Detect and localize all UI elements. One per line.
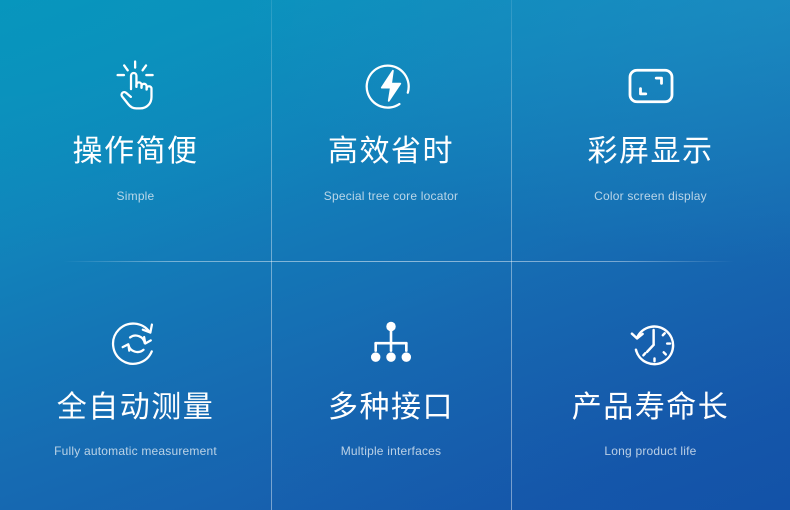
- feature-cell-interfaces: 多种接口 Multiple interfaces: [271, 261, 511, 510]
- feature-grid-banner: 操作简便 Simple 高效省时 Special tree core locat…: [0, 0, 790, 510]
- feature-title: 产品寿命长: [572, 392, 730, 424]
- feature-cell-efficient: 高效省时 Special tree core locator: [271, 0, 511, 261]
- lightning-bolt-circle-icon: [363, 58, 419, 114]
- feature-cell-auto-measure: 全自动测量 Fully automatic measurement: [0, 261, 271, 510]
- feature-cell-color-screen: 彩屏显示 Color screen display: [511, 0, 790, 261]
- feature-subtitle: Fully automatic measurement: [54, 444, 217, 458]
- feature-subtitle: Multiple interfaces: [341, 444, 442, 458]
- feature-title: 彩屏显示: [588, 136, 714, 168]
- auto-refresh-cycle-icon: [108, 316, 164, 372]
- tap-hand-icon: [108, 58, 164, 114]
- screen-display-icon: [623, 58, 679, 114]
- feature-subtitle: Simple: [117, 189, 155, 203]
- feature-title: 高效省时: [328, 136, 454, 168]
- feature-subtitle: Long product life: [604, 444, 696, 458]
- feature-subtitle: Color screen display: [594, 189, 707, 203]
- feature-cell-simple: 操作简便 Simple: [0, 0, 271, 261]
- feature-title: 操作简便: [73, 136, 199, 168]
- features-grid: 操作简便 Simple 高效省时 Special tree core locat…: [0, 0, 790, 510]
- hierarchy-nodes-icon: [363, 316, 419, 372]
- feature-subtitle: Special tree core locator: [324, 189, 458, 203]
- feature-title: 全自动测量: [57, 392, 215, 424]
- feature-cell-long-life: 产品寿命长 Long product life: [511, 261, 790, 510]
- feature-title: 多种接口: [328, 392, 454, 424]
- clock-history-icon: [623, 316, 679, 372]
